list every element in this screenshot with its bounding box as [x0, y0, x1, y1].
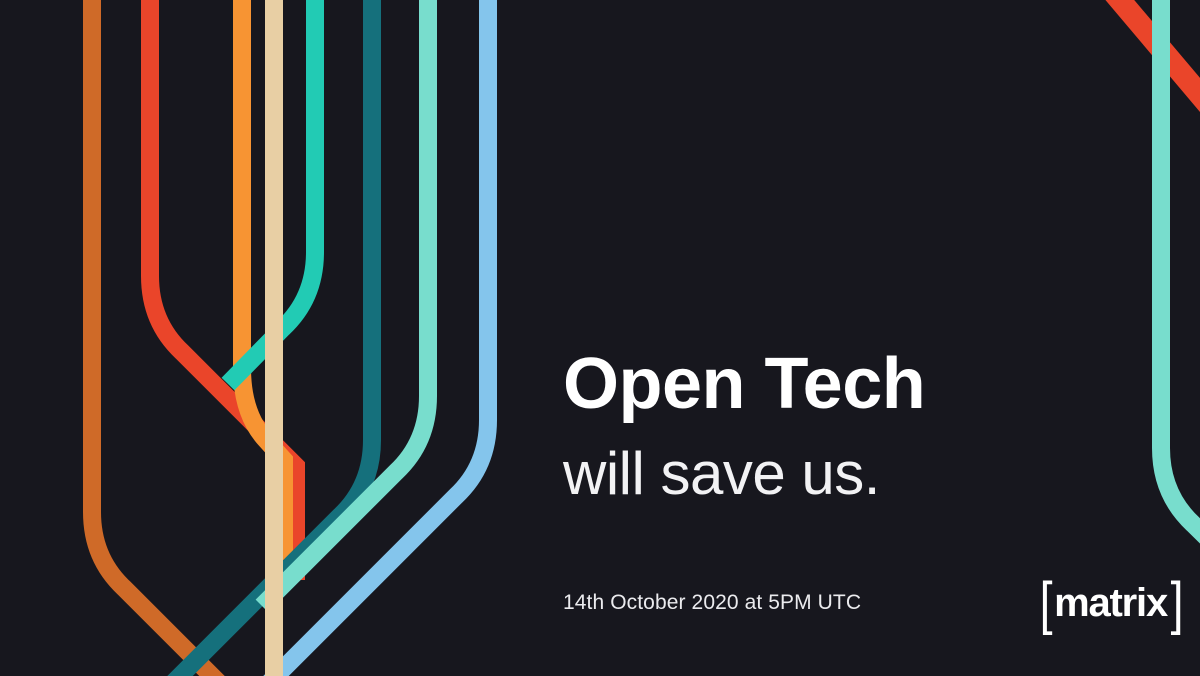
bracket-right-icon: ]: [1171, 575, 1184, 633]
logo-wordmark: matrix: [1054, 583, 1169, 626]
headline-secondary: will save us.: [563, 444, 1123, 504]
bracket-left-icon: [: [1040, 575, 1053, 633]
event-date: 14th October 2020 at 5PM UTC: [563, 591, 861, 615]
headline-block: Open Tech will save us.: [563, 348, 1123, 504]
poster-canvas: Open Tech will save us. 14th October 202…: [0, 0, 1200, 676]
poster-content: Open Tech will save us. 14th October 202…: [0, 0, 1200, 676]
matrix-logo: [ matrix ]: [1038, 575, 1185, 633]
headline-primary: Open Tech: [563, 348, 1123, 420]
